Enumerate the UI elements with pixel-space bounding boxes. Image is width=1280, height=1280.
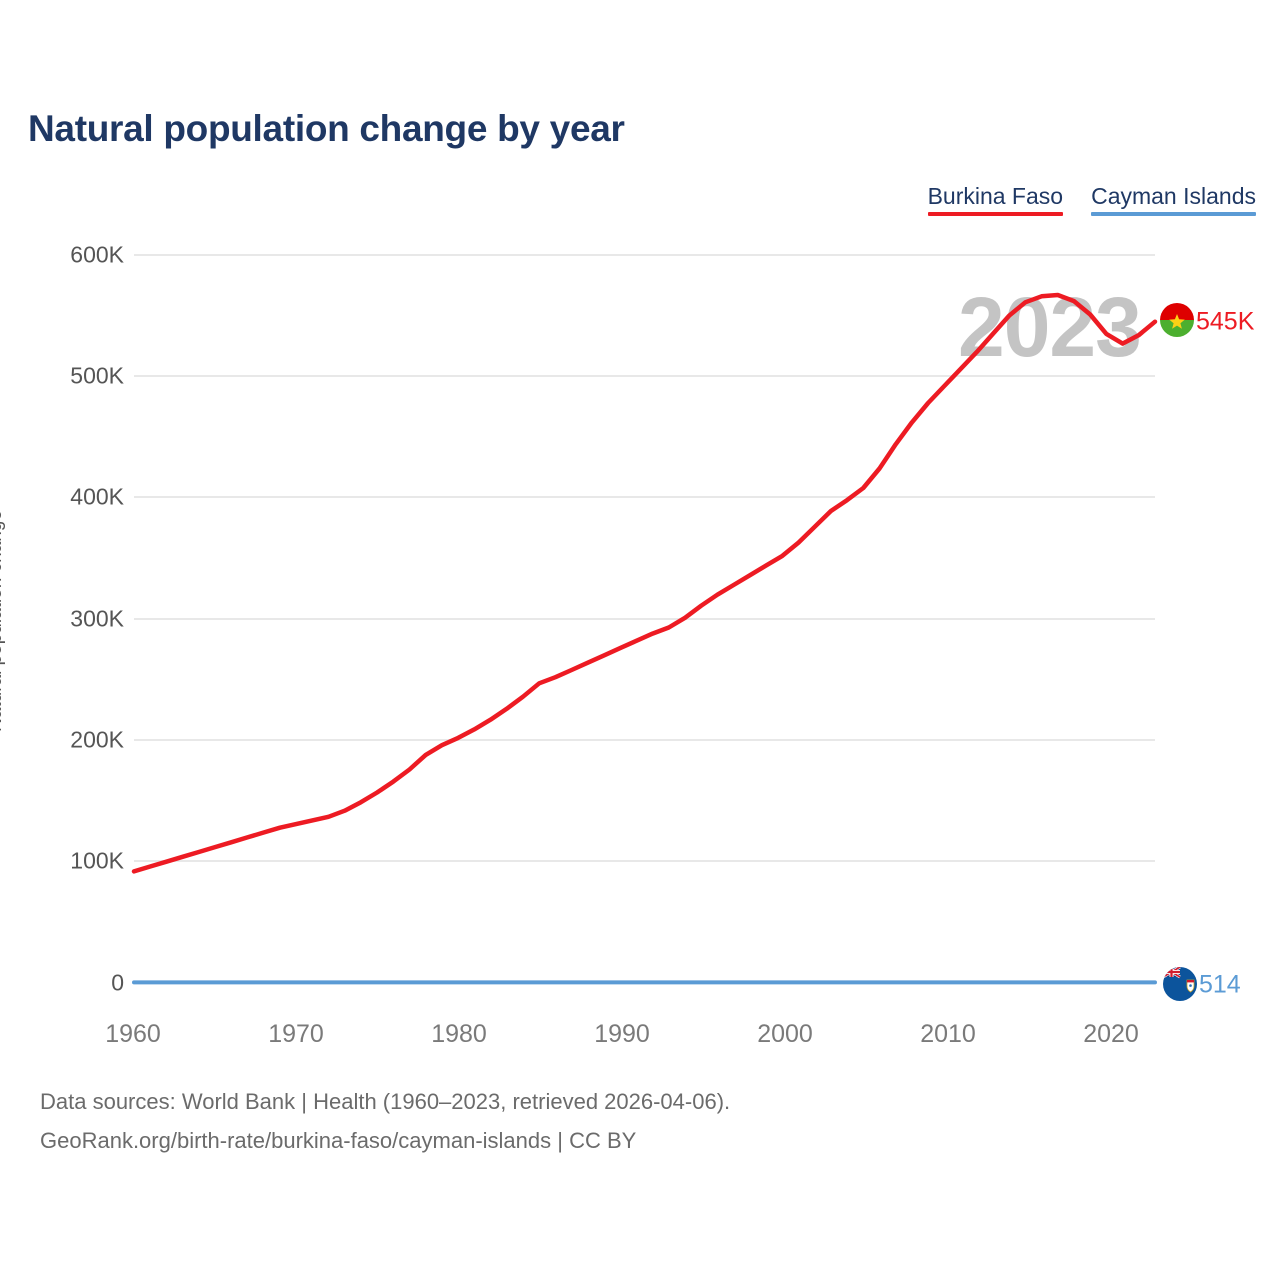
footer-line-1: Data sources: World Bank | Health (1960–…: [40, 1082, 730, 1121]
endpoint-value-burkina-faso: 545K: [1196, 308, 1254, 337]
endpoint-value-cayman-islands: 514: [1199, 971, 1241, 1000]
gridlines: [134, 255, 1155, 861]
x-tick-2000: 2000: [757, 1020, 813, 1049]
x-tick-2010: 2010: [920, 1020, 976, 1049]
burkina-faso-flag-icon: [1160, 303, 1194, 337]
x-tick-1960: 1960: [105, 1020, 161, 1049]
x-tick-1990: 1990: [594, 1020, 650, 1049]
x-tick-1980: 1980: [431, 1020, 487, 1049]
coat-of-arms: [1187, 980, 1194, 992]
series-line-burkina-faso: [134, 295, 1155, 871]
footer-line-2: GeoRank.org/birth-rate/burkina-faso/caym…: [40, 1121, 730, 1160]
x-tick-2020: 2020: [1083, 1020, 1139, 1049]
cayman-islands-flag-icon: [1163, 967, 1197, 1001]
x-axis-ticks: 1960 1970 1980 1990 2000 2010 2020: [0, 1020, 1280, 1060]
x-tick-1970: 1970: [268, 1020, 324, 1049]
chart-page: Natural population change by year Burkin…: [0, 0, 1280, 1280]
footer-sources: Data sources: World Bank | Health (1960–…: [40, 1082, 730, 1160]
